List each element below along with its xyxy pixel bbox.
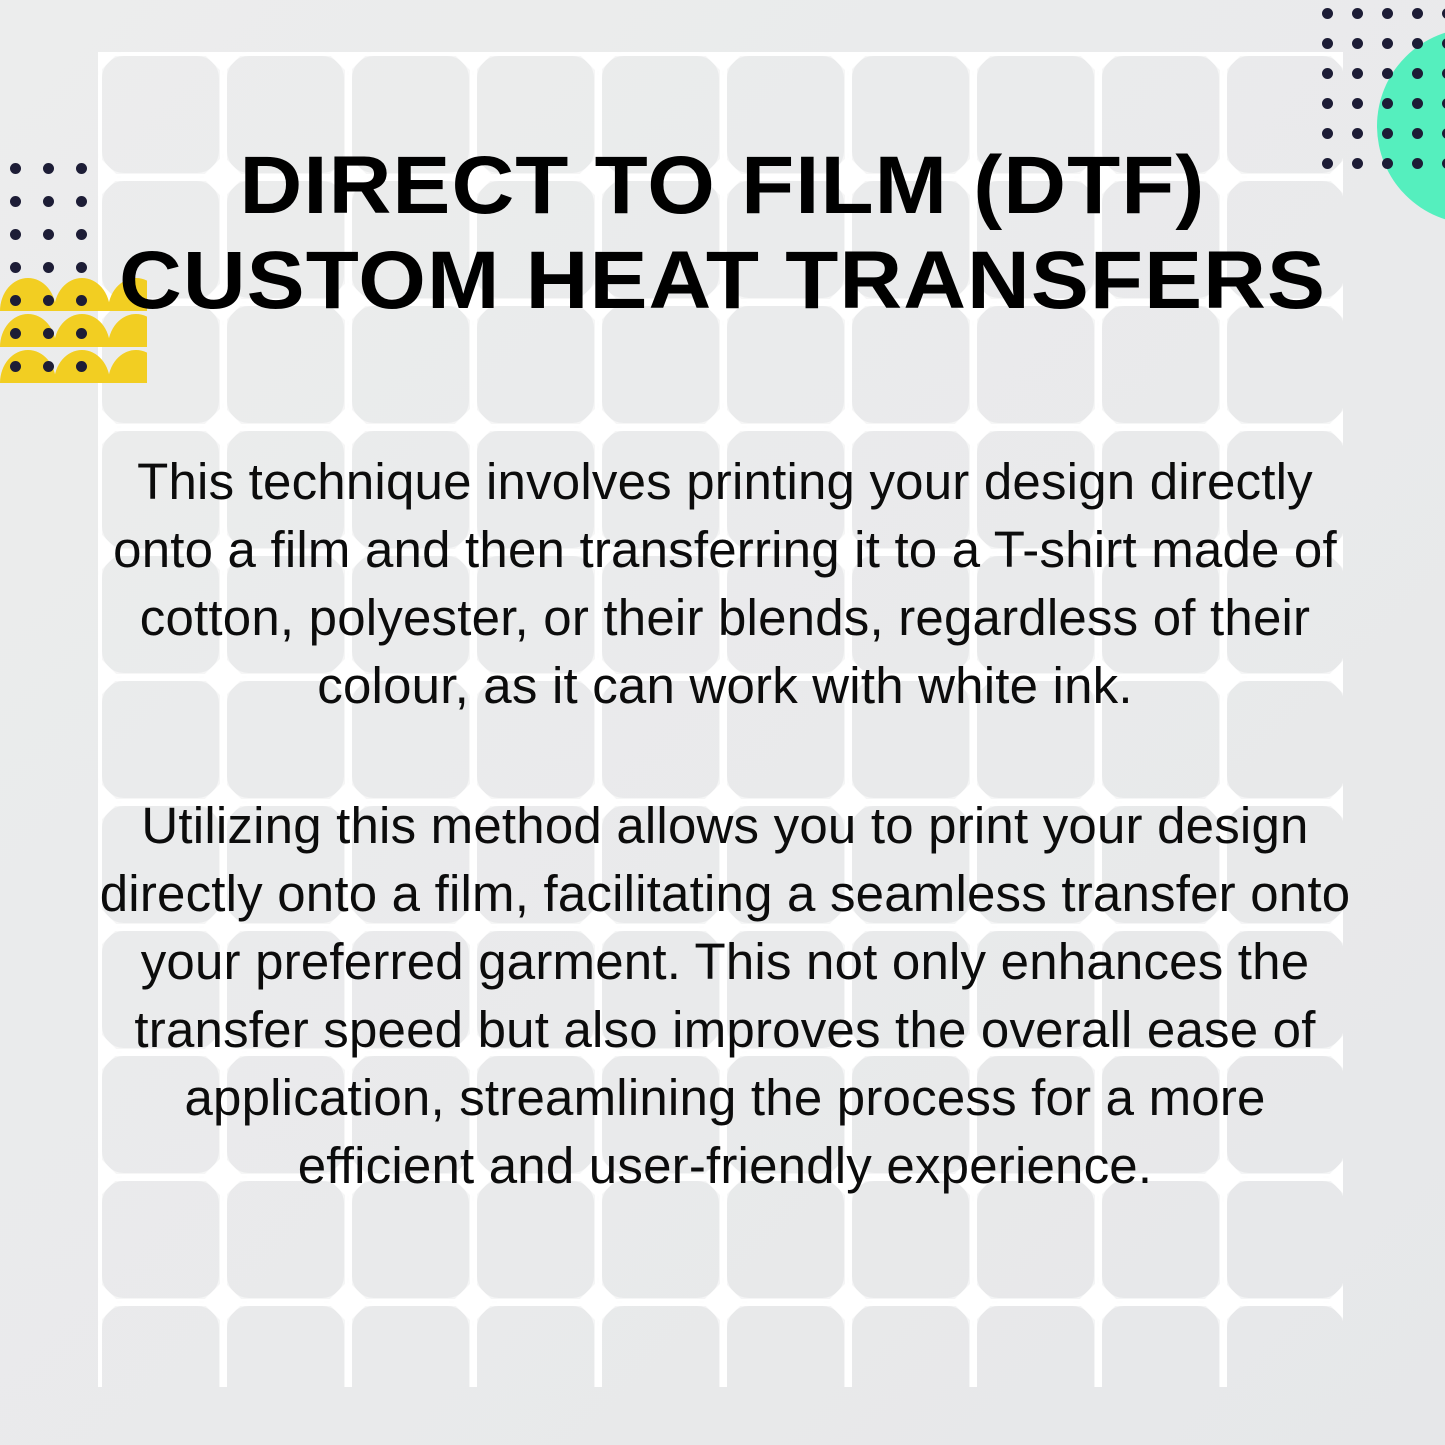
poster-canvas: DIRECT TO FILM (DTF) CUSTOM HEAT TRANSFE… <box>0 0 1445 1445</box>
paragraph-2: Utilizing this method allows you to prin… <box>95 792 1355 1200</box>
title-line-1: DIRECT TO FILM (DTF) <box>84 138 1361 233</box>
title-line-2: CUSTOM HEAT TRANSFERS <box>84 233 1361 328</box>
body-copy: This technique involves printing your de… <box>95 448 1355 1200</box>
page-title: DIRECT TO FILM (DTF) CUSTOM HEAT TRANSFE… <box>120 138 1325 328</box>
paragraph-1: This technique involves printing your de… <box>95 448 1355 720</box>
content-layer: DIRECT TO FILM (DTF) CUSTOM HEAT TRANSFE… <box>0 0 1445 1445</box>
